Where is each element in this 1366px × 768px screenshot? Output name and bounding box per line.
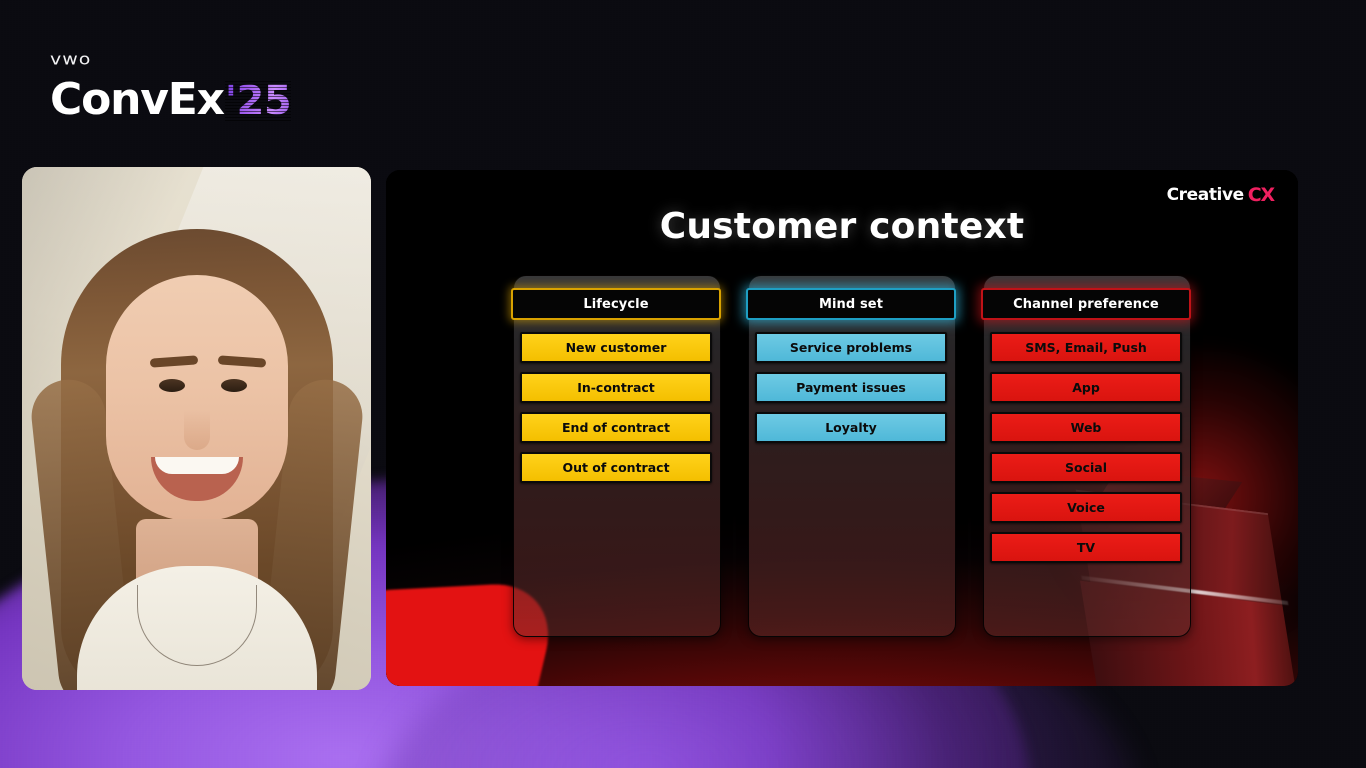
customer-context-columns: Lifecycle New customer In-contract End o… [511, 275, 1191, 563]
chip-social[interactable]: Social [990, 452, 1182, 483]
column-items-channel-preference: SMS, Email, Push App Web Social Voice TV [981, 332, 1191, 563]
speaker-eye-left [159, 379, 185, 392]
chip-payment-issues[interactable]: Payment issues [755, 372, 947, 403]
column-items-lifecycle: New customer In-contract End of contract… [511, 332, 721, 483]
chip-web[interactable]: Web [990, 412, 1182, 443]
chip-app[interactable]: App [990, 372, 1182, 403]
column-header-mind-set[interactable]: Mind set [746, 288, 956, 320]
chip-end-of-contract[interactable]: End of contract [520, 412, 712, 443]
chip-out-of-contract[interactable]: Out of contract [520, 452, 712, 483]
chip-service-problems[interactable]: Service problems [755, 332, 947, 363]
column-mind-set: Mind set Service problems Payment issues… [746, 275, 956, 563]
creative-cx-logo: Creative CX [1167, 184, 1274, 206]
convex-logo-year: '25 [225, 81, 291, 121]
column-items-mind-set: Service problems Payment issues Loyalty [746, 332, 956, 443]
chip-in-contract[interactable]: In-contract [520, 372, 712, 403]
speaker-eye-right [221, 379, 247, 392]
chip-tv[interactable]: TV [990, 532, 1182, 563]
shared-slide[interactable]: Creative CX Customer context Lifecycle N… [386, 170, 1298, 686]
vwo-convex-logo: vwo ConvEx '25 [50, 52, 291, 122]
chip-new-customer[interactable]: New customer [520, 332, 712, 363]
slide-title: Customer context [386, 206, 1298, 247]
convex-logo-word: ConvEx [50, 78, 224, 122]
creative-cx-mark: CX [1248, 184, 1274, 206]
presentation-stage: vwo ConvEx '25 Creati [0, 0, 1366, 768]
column-lifecycle: Lifecycle New customer In-contract End o… [511, 275, 721, 563]
column-panel [748, 275, 956, 637]
convex-wordmark: ConvEx '25 [50, 78, 291, 122]
column-header-channel-preference[interactable]: Channel preference [981, 288, 1191, 320]
column-channel-preference: Channel preference SMS, Email, Push App … [981, 275, 1191, 563]
vwo-logo-text: vwo [50, 52, 291, 68]
chip-voice[interactable]: Voice [990, 492, 1182, 523]
creative-cx-word: Creative [1167, 185, 1244, 205]
chip-sms-email-push[interactable]: SMS, Email, Push [990, 332, 1182, 363]
speaker-nose [184, 410, 210, 450]
chip-loyalty[interactable]: Loyalty [755, 412, 947, 443]
speaker-video-tile[interactable] [22, 167, 371, 690]
column-header-lifecycle[interactable]: Lifecycle [511, 288, 721, 320]
